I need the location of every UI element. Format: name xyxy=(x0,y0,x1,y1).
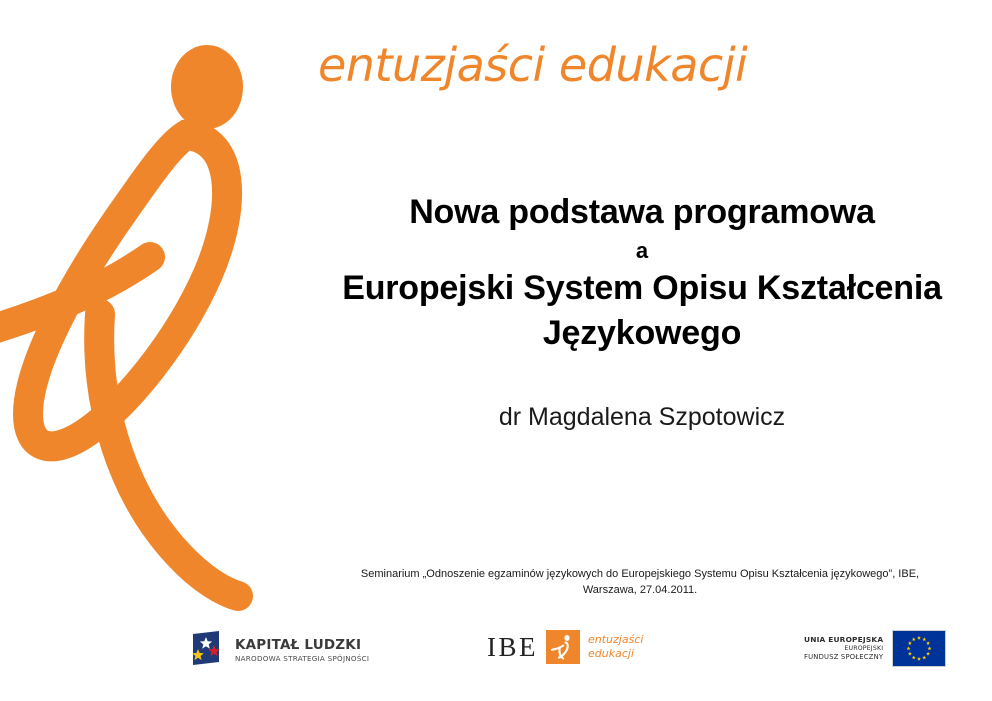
ibe-orange-square-e-mark xyxy=(546,630,580,664)
seminar-caption-line-1: Seminarium „Odnoszenie egzaminów językow… xyxy=(300,566,980,582)
ibe-wordmark-line-1: entuzjaści xyxy=(588,633,643,647)
footer-logo-strip: KAPITAŁ LUDZKI NARODOWA STRATEGIA SPÓJNO… xyxy=(0,624,992,684)
presentation-slide: entuzjaści edukacji Nowa podstawa progra… xyxy=(0,0,992,701)
ibe-logo: IBE entuzjaści edukacji xyxy=(487,630,643,664)
seminar-caption-line-2: Warszawa, 27.04.2011. xyxy=(300,582,980,598)
kapital-ludzki-text: KAPITAŁ LUDZKI NARODOWA STRATEGIA SPÓJNO… xyxy=(235,639,369,663)
unia-line-1: UNIA EUROPEJSKA xyxy=(804,636,883,643)
author-name: dr Magdalena Szpotowicz xyxy=(292,400,992,434)
title-line-2: Europejski System Opisu Kształcenia xyxy=(292,266,992,311)
title-conjunction: a xyxy=(292,235,992,266)
title-line-3: Językowego xyxy=(292,311,992,356)
ibe-letters: IBE xyxy=(487,634,538,661)
unia-europejska-text: UNIA EUROPEJSKA EUROPEJSKI FUNDUSZ SPOŁE… xyxy=(804,636,883,661)
entuzjasci-edukacji-e-mark xyxy=(0,14,292,614)
european-union-flag xyxy=(892,630,946,667)
page-title: Nowa podstawa programowa a Europejski Sy… xyxy=(292,190,992,356)
kapital-ludzki-subtitle: NARODOWA STRATEGIA SPÓJNOŚCI xyxy=(235,655,369,662)
header-wordmark: entuzjaści edukacji xyxy=(318,34,768,96)
kapital-ludzki-title: KAPITAŁ LUDZKI xyxy=(235,639,369,653)
kapital-ludzki-logo: KAPITAŁ LUDZKI NARODOWA STRATEGIA SPÓJNO… xyxy=(186,628,369,673)
unia-line-3: FUNDUSZ SPOŁECZNY xyxy=(804,654,883,661)
seminar-caption: Seminarium „Odnoszenie egzaminów językow… xyxy=(300,566,980,598)
unia-europejska-logo: UNIA EUROPEJSKA EUROPEJSKI FUNDUSZ SPOŁE… xyxy=(804,630,946,667)
unia-line-2: EUROPEJSKI xyxy=(804,646,883,652)
title-line-1: Nowa podstawa programowa xyxy=(292,190,992,235)
kapital-ludzki-stars-emblem xyxy=(186,628,226,673)
ibe-wordmark: entuzjaści edukacji xyxy=(588,633,643,661)
ibe-wordmark-line-2: edukacji xyxy=(588,647,643,661)
